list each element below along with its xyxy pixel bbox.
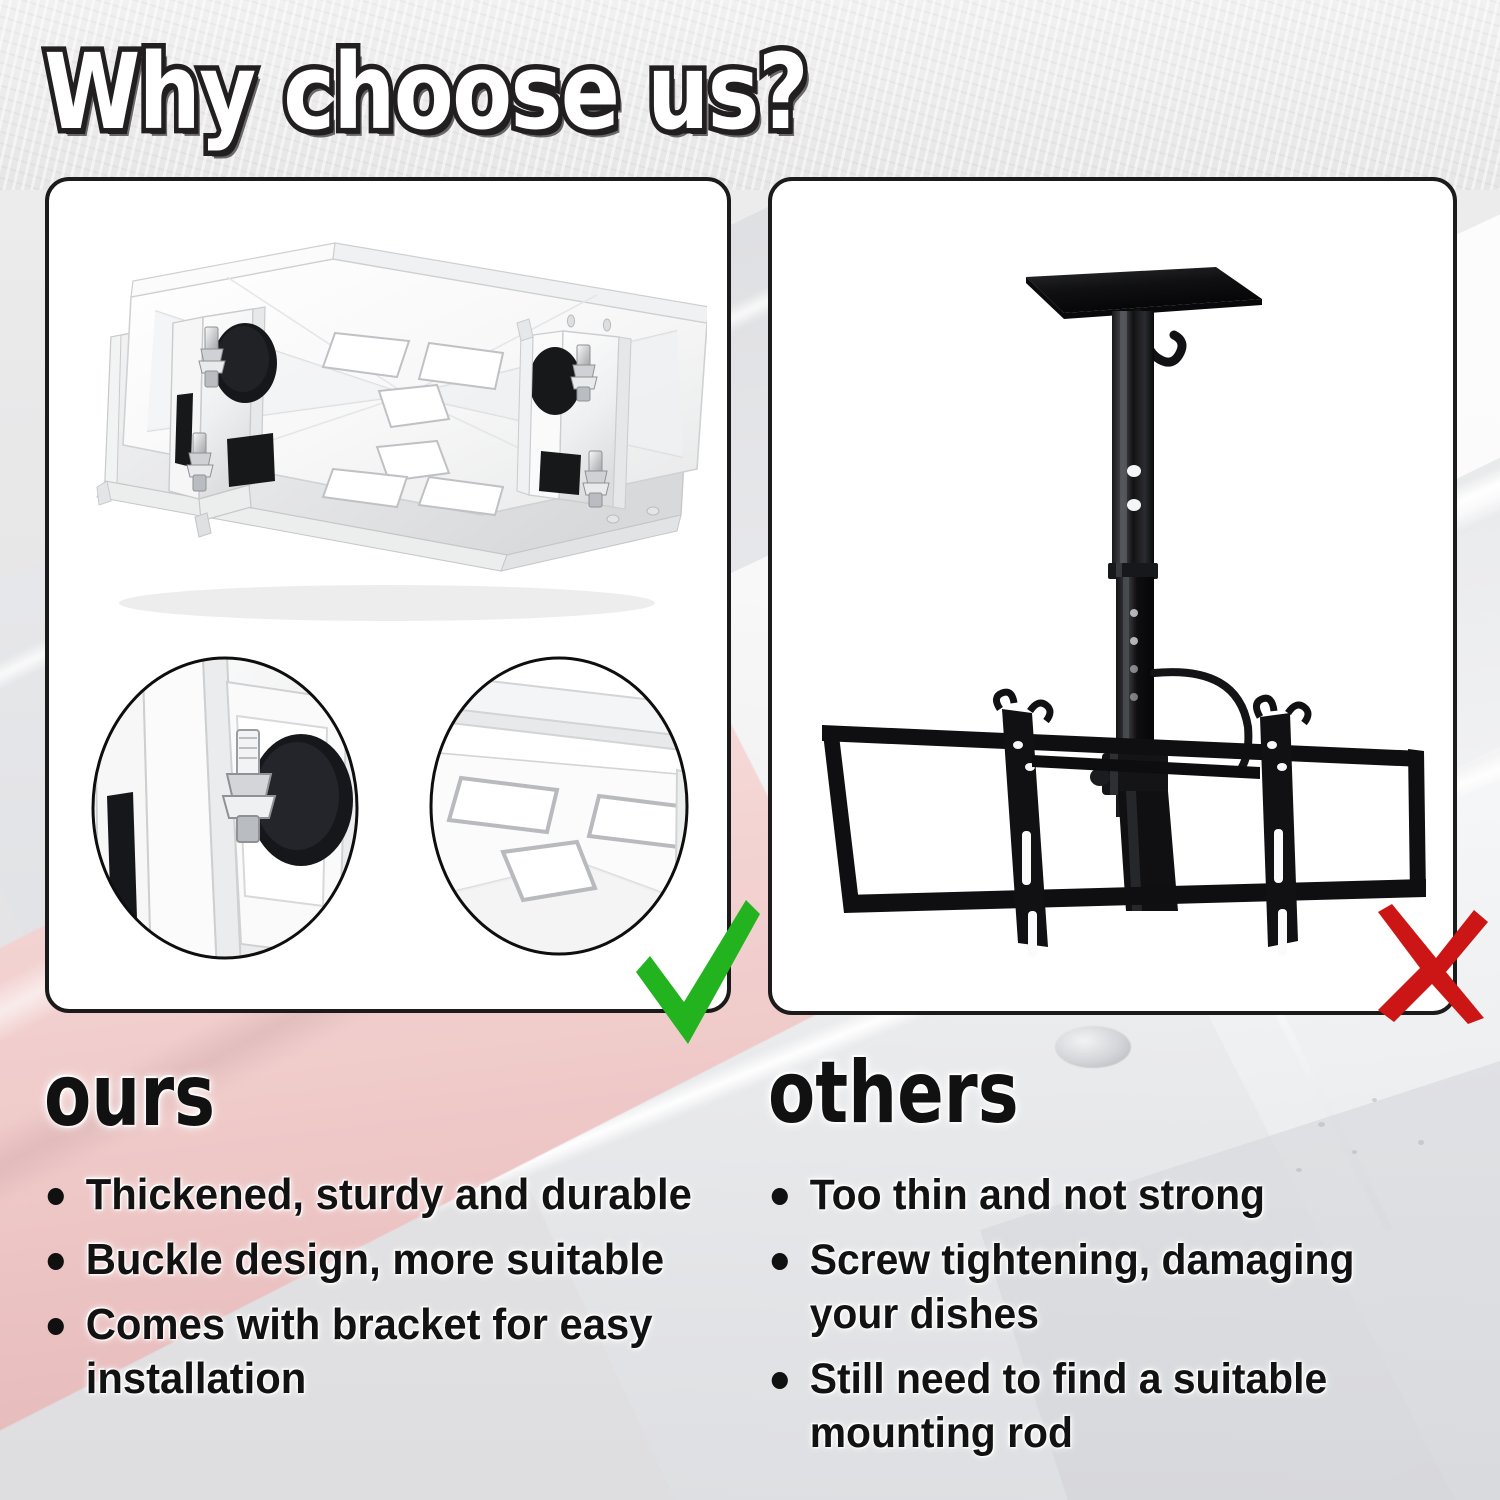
green-check-icon [634, 896, 762, 1048]
background-roof-fitting [1055, 1026, 1131, 1068]
page-title: Why choose us? [44, 36, 666, 148]
droplet-icon [1352, 1150, 1357, 1154]
product-image-others-ceiling-mount [786, 211, 1446, 981]
detail-inset-group-ours [77, 656, 707, 986]
list-item: Too thin and not strong [766, 1168, 1431, 1222]
list-item: Screw tightening, damaging your dishes [766, 1233, 1431, 1341]
list-item: Still need to find a suitable mounting r… [766, 1352, 1431, 1460]
list-item: Comes with bracket for easy installation [42, 1298, 724, 1406]
droplet-icon [1372, 1098, 1377, 1102]
product-image-ours-bracket [77, 219, 707, 639]
feature-list-others: Too thin and not strong Screw tightening… [766, 1168, 1466, 1471]
feature-list-ours: Thickened, sturdy and durable Buckle des… [42, 1168, 760, 1417]
comparison-panel-others [768, 177, 1457, 1015]
list-item: Buckle design, more suitable [42, 1233, 724, 1287]
detail-inset-buckle [77, 656, 377, 986]
droplet-icon [1318, 1122, 1325, 1127]
red-cross-icon [1370, 902, 1492, 1026]
column-heading-others: others [768, 1050, 1019, 1136]
column-heading-ours: ours [44, 1053, 215, 1139]
infographic-canvas: Why choose us? [0, 0, 1500, 1500]
list-item: Thickened, sturdy and durable [42, 1168, 724, 1222]
droplet-icon [1418, 1140, 1424, 1145]
comparison-panel-ours [45, 177, 731, 1013]
